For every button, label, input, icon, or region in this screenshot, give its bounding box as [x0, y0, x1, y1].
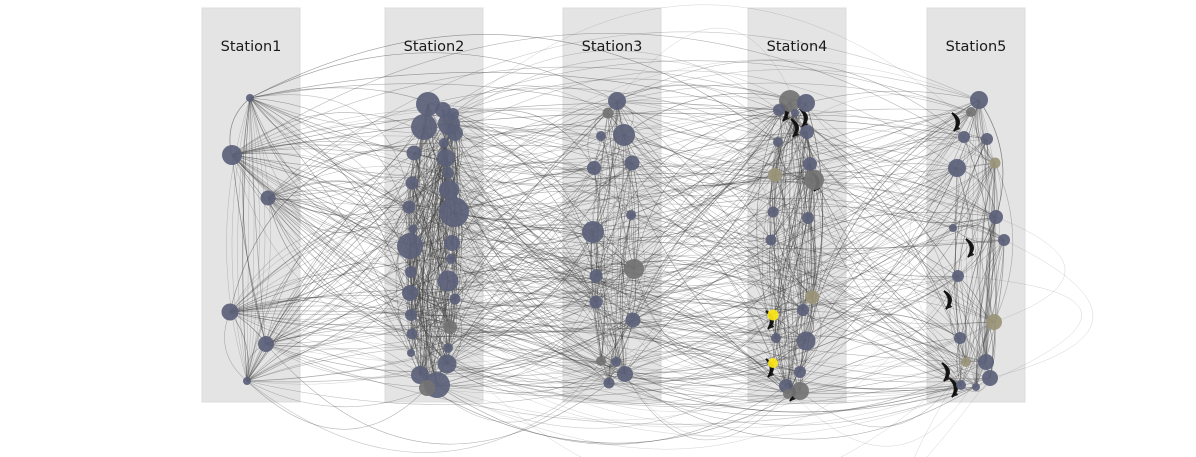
- graph-node[interactable]: [802, 212, 814, 224]
- station-labels: Station1Station2Station3Station4Station5: [221, 39, 1007, 55]
- graph-node[interactable]: [791, 109, 799, 117]
- graph-node[interactable]: [407, 329, 418, 340]
- graph-node[interactable]: [222, 145, 242, 165]
- graph-node[interactable]: [402, 285, 418, 301]
- graph-node[interactable]: [981, 133, 993, 145]
- graph-node[interactable]: [952, 270, 964, 282]
- graph-node[interactable]: [438, 355, 457, 374]
- graph-node[interactable]: [961, 357, 971, 367]
- graph-node[interactable]: [978, 354, 994, 370]
- graph-node[interactable]: [768, 310, 779, 321]
- graph-node[interactable]: [450, 294, 461, 305]
- graph-node[interactable]: [768, 358, 778, 368]
- graph-node[interactable]: [982, 370, 998, 386]
- graph-node[interactable]: [626, 210, 636, 220]
- graph-node[interactable]: [791, 382, 809, 400]
- graph-canvas: Station1Station2Station3Station4Station5: [0, 0, 1196, 457]
- graph-node[interactable]: [972, 383, 980, 391]
- graph-node[interactable]: [243, 377, 251, 385]
- graph-node[interactable]: [986, 314, 1002, 330]
- graph-node[interactable]: [611, 357, 621, 367]
- graph-node[interactable]: [958, 131, 970, 143]
- graph-node[interactable]: [797, 332, 816, 351]
- graph-node[interactable]: [989, 210, 1003, 224]
- graph-node[interactable]: [608, 92, 626, 110]
- graph-node[interactable]: [771, 333, 781, 343]
- graph-node[interactable]: [773, 137, 783, 147]
- graph-node[interactable]: [956, 380, 966, 390]
- graph-node[interactable]: [624, 259, 644, 279]
- station-label-3: Station3: [582, 39, 643, 55]
- graph-node[interactable]: [617, 366, 633, 382]
- graph-node[interactable]: [596, 356, 606, 366]
- graph-node[interactable]: [444, 235, 460, 251]
- graph-node[interactable]: [990, 158, 1001, 169]
- graph-node[interactable]: [582, 221, 604, 243]
- graph-node[interactable]: [966, 107, 976, 117]
- graph-node[interactable]: [596, 131, 606, 141]
- graph-node[interactable]: [406, 177, 419, 190]
- graph-node[interactable]: [805, 290, 819, 304]
- graph-node[interactable]: [403, 201, 416, 214]
- graph-node[interactable]: [954, 332, 966, 344]
- graph-node[interactable]: [800, 125, 814, 139]
- graph-node[interactable]: [604, 378, 615, 389]
- network-graph-figure: Station1Station2Station3Station4Station5: [0, 0, 1196, 457]
- station-label-1: Station1: [221, 39, 282, 55]
- graph-node[interactable]: [625, 156, 640, 171]
- graph-node[interactable]: [407, 146, 422, 161]
- graph-node[interactable]: [439, 197, 469, 227]
- graph-node[interactable]: [804, 170, 824, 190]
- graph-node[interactable]: [768, 168, 782, 182]
- graph-node[interactable]: [783, 389, 793, 399]
- graph-node[interactable]: [626, 313, 641, 328]
- graph-node[interactable]: [409, 225, 418, 234]
- graph-node[interactable]: [447, 125, 463, 141]
- graph-node[interactable]: [998, 234, 1010, 246]
- graph-node[interactable]: [438, 271, 459, 292]
- graph-node[interactable]: [803, 157, 817, 171]
- graph-node[interactable]: [246, 94, 254, 102]
- graph-node[interactable]: [258, 336, 274, 352]
- graph-node[interactable]: [419, 380, 435, 396]
- graph-node[interactable]: [590, 270, 603, 283]
- station-band-5: [927, 8, 1025, 402]
- edge: [447, 364, 976, 437]
- station-label-4: Station4: [767, 39, 828, 55]
- graph-node[interactable]: [797, 304, 809, 316]
- graph-node[interactable]: [437, 149, 455, 167]
- graph-node[interactable]: [261, 191, 276, 206]
- graph-node[interactable]: [603, 108, 614, 119]
- graph-node[interactable]: [397, 233, 423, 259]
- graph-node[interactable]: [405, 309, 417, 321]
- graph-node[interactable]: [587, 161, 601, 175]
- graph-node[interactable]: [442, 167, 454, 179]
- graph-node[interactable]: [797, 94, 815, 112]
- graph-node[interactable]: [405, 266, 417, 278]
- graph-node[interactable]: [439, 138, 449, 148]
- graph-node[interactable]: [949, 224, 957, 232]
- graph-node[interactable]: [766, 235, 777, 246]
- graph-node[interactable]: [794, 366, 806, 378]
- station-band-1: [202, 8, 300, 402]
- station-label-2: Station2: [404, 39, 465, 55]
- graph-node[interactable]: [443, 343, 453, 353]
- graph-node[interactable]: [446, 254, 456, 264]
- edge: [448, 348, 966, 457]
- station-label-5: Station5: [946, 39, 1007, 55]
- graph-node[interactable]: [768, 207, 779, 218]
- graph-node[interactable]: [590, 296, 603, 309]
- graph-node[interactable]: [222, 304, 239, 321]
- graph-node[interactable]: [411, 114, 437, 140]
- graph-node[interactable]: [773, 104, 785, 116]
- graph-node[interactable]: [443, 320, 457, 334]
- graph-node[interactable]: [970, 91, 988, 109]
- graph-node[interactable]: [439, 180, 459, 200]
- graph-node[interactable]: [948, 159, 966, 177]
- graph-node[interactable]: [613, 124, 635, 146]
- graph-node[interactable]: [407, 349, 415, 357]
